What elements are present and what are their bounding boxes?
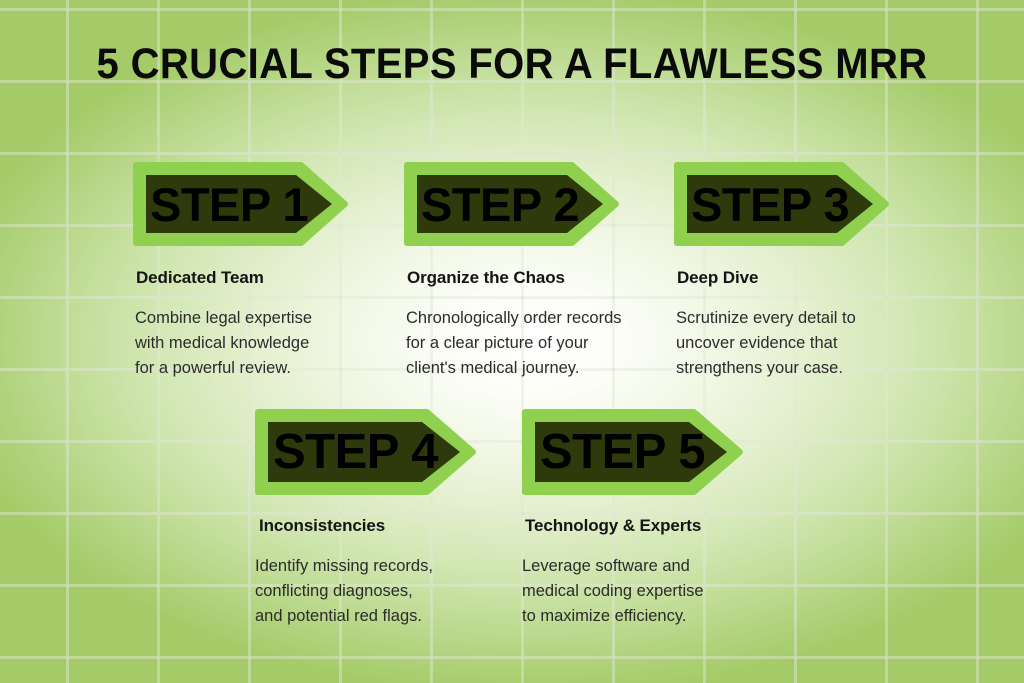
step-card-5: STEP 5 Technology & Experts Leverage sof… — [522, 407, 744, 629]
arrow-badge-icon — [404, 160, 619, 248]
step-card-2: STEP 2 Organize the Chaos Chronologicall… — [404, 160, 622, 381]
step-heading-2: Organize the Chaos — [407, 268, 622, 288]
step-card-3: STEP 3 Deep Dive Scrutinize every detail… — [674, 160, 889, 381]
arrow-badge-icon — [133, 160, 348, 248]
arrow-badge-icon — [255, 407, 477, 497]
step-badge-4: STEP 4 — [255, 407, 477, 497]
step-body-2: Chronologically order records for a clea… — [406, 306, 622, 381]
step-heading-1: Dedicated Team — [136, 268, 348, 288]
arrow-badge-icon — [674, 160, 889, 248]
step-badge-5: STEP 5 — [522, 407, 744, 497]
step-card-4: STEP 4 Inconsistencies Identify missing … — [255, 407, 477, 629]
step-heading-4: Inconsistencies — [259, 516, 477, 536]
step-heading-3: Deep Dive — [677, 268, 889, 288]
step-badge-1: STEP 1 — [133, 160, 348, 248]
step-body-5: Leverage software and medical coding exp… — [522, 554, 744, 629]
arrow-badge-icon — [522, 407, 744, 497]
step-heading-5: Technology & Experts — [525, 516, 744, 536]
step-body-4: Identify missing records, conflicting di… — [255, 554, 477, 629]
step-body-3: Scrutinize every detail to uncover evide… — [676, 306, 889, 381]
page-title: 5 CRUCIAL STEPS FOR A FLAWLESS MRR — [36, 40, 988, 89]
step-card-1: STEP 1 Dedicated Team Combine legal expe… — [133, 160, 348, 381]
step-body-1: Combine legal expertise with medical kno… — [135, 306, 348, 381]
step-badge-2: STEP 2 — [404, 160, 619, 248]
infographic-canvas: 5 CRUCIAL STEPS FOR A FLAWLESS MRR STEP … — [0, 0, 1024, 683]
step-badge-3: STEP 3 — [674, 160, 889, 248]
